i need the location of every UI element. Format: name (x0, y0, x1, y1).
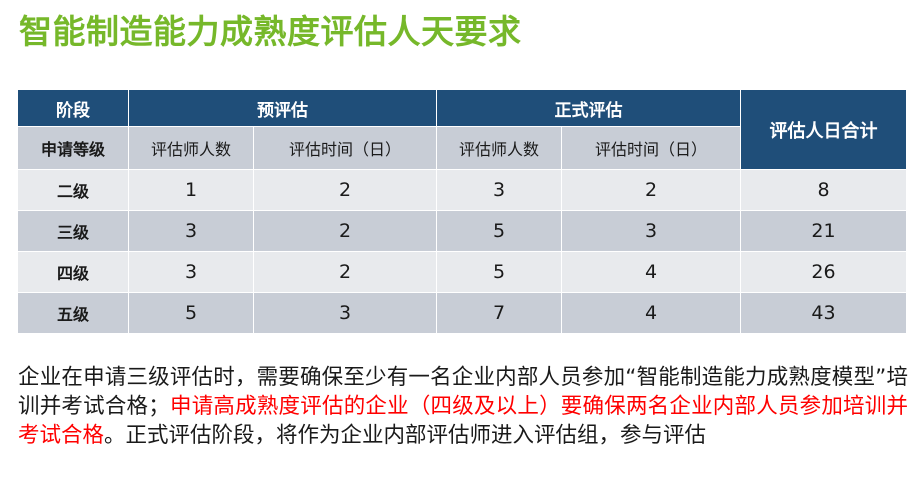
table-row: 四级 3 2 5 4 26 (18, 252, 907, 293)
cell-formal-assess-days: 3 (562, 211, 741, 252)
cell-pre-assessor-count: 5 (129, 293, 254, 334)
table-header-row-group: 阶段 预评估 正式评估 评估人日合计 (18, 90, 907, 127)
cell-pre-assess-days: 2 (254, 170, 437, 211)
cell-formal-assessor-count: 7 (437, 293, 562, 334)
cell-formal-assess-days: 4 (562, 293, 741, 334)
cell-level: 四级 (18, 252, 129, 293)
cell-total: 8 (741, 170, 907, 211)
cell-level: 二级 (18, 170, 129, 211)
cell-total: 21 (741, 211, 907, 252)
header-formal-assessor-count: 评估师人数 (437, 127, 562, 170)
assessment-days-table: 阶段 预评估 正式评估 评估人日合计 申请等级 评估师人数 评估时间（日） 评估… (17, 89, 907, 334)
table-body: 二级 1 2 3 2 8 三级 3 2 5 3 21 四级 3 (18, 170, 907, 334)
cell-formal-assessor-count: 3 (437, 170, 562, 211)
header-formal-assess-days: 评估时间（日） (562, 127, 741, 170)
cell-pre-assessor-count: 3 (129, 252, 254, 293)
cell-formal-assess-days: 4 (562, 252, 741, 293)
cell-formal-assessor-count: 5 (437, 211, 562, 252)
table-header: 阶段 预评估 正式评估 评估人日合计 申请等级 评估师人数 评估时间（日） 评估… (18, 90, 907, 170)
table-row: 五级 5 3 7 4 43 (18, 293, 907, 334)
header-apply-level: 申请等级 (18, 127, 129, 170)
cell-level: 五级 (18, 293, 129, 334)
header-pre-assessor-count: 评估师人数 (129, 127, 254, 170)
cell-level: 三级 (18, 211, 129, 252)
note-paragraph: 企业在申请三级评估时，需要确保至少有一名企业内部人员参加“智能制造能力成熟度模型… (18, 363, 908, 450)
header-formal-assessment: 正式评估 (437, 90, 741, 127)
cell-formal-assess-days: 2 (562, 170, 741, 211)
header-pre-assessment: 预评估 (129, 90, 437, 127)
cell-pre-assess-days: 2 (254, 252, 437, 293)
cell-pre-assess-days: 2 (254, 211, 437, 252)
slide-canvas: 智能制造能力成熟度评估人天要求 阶段 预评估 正式评估 评估人日合计 申请等级 … (0, 0, 921, 500)
table-row: 二级 1 2 3 2 8 (18, 170, 907, 211)
table-row: 三级 3 2 5 3 21 (18, 211, 907, 252)
header-pre-assess-days: 评估时间（日） (254, 127, 437, 170)
page-title: 智能制造能力成熟度评估人天要求 (19, 10, 522, 54)
cell-pre-assess-days: 3 (254, 293, 437, 334)
cell-pre-assessor-count: 3 (129, 211, 254, 252)
cell-total: 26 (741, 252, 907, 293)
assessment-days-table-wrapper: 阶段 预评估 正式评估 评估人日合计 申请等级 评估师人数 评估时间（日） 评估… (17, 89, 906, 334)
header-stage: 阶段 (18, 90, 129, 127)
note-segment-black-2: 。正式评估阶段，将作为企业内部评估师进入评估组，参与评估 (104, 423, 706, 448)
cell-total: 43 (741, 293, 907, 334)
cell-formal-assessor-count: 5 (437, 252, 562, 293)
cell-pre-assessor-count: 1 (129, 170, 254, 211)
header-total-person-days: 评估人日合计 (741, 90, 907, 170)
